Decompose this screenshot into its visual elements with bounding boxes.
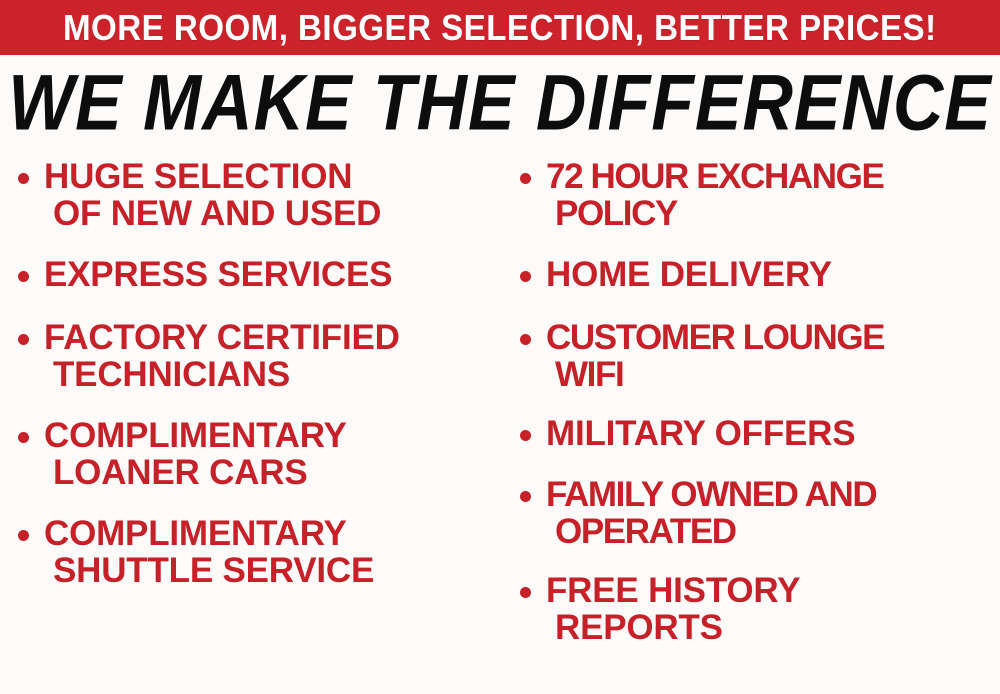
bullet-dot-icon <box>520 430 531 441</box>
list-item: EXPRESS SERVICES <box>18 256 494 293</box>
list-item-line-1: FACTORY CERTIFIED <box>44 318 400 357</box>
list-item-line-1: COMPLIMENTARY <box>44 416 347 455</box>
list-item: COMPLIMENTARY LOANER CARS <box>18 417 494 491</box>
bullet-dot-icon <box>18 271 29 282</box>
list-item-line-2: OF NEW AND USED <box>44 195 494 232</box>
bullet-dot-icon <box>520 271 531 282</box>
bullet-dot-icon <box>18 334 29 345</box>
top-promo-banner: MORE ROOM, BIGGER SELECTION, BETTER PRIC… <box>0 0 1000 55</box>
list-item-line-2: WIFI <box>546 356 994 393</box>
list-item-label: FAMILY OWNED AND OPERATED <box>546 476 994 550</box>
list-item-line-1: CUSTOMER LOUNGE <box>546 318 884 357</box>
list-item-label: CUSTOMER LOUNGE WIFI <box>546 319 994 393</box>
list-item-label: FACTORY CERTIFIED TECHNICIANS <box>44 319 494 393</box>
list-item: COMPLIMENTARY SHUTTLE SERVICE <box>18 515 494 589</box>
list-item: HUGE SELECTION OF NEW AND USED <box>18 158 494 232</box>
list-item-line-1: COMPLIMENTARY <box>44 514 347 553</box>
page-title: WE MAKE THE DIFFERENCE <box>8 63 992 142</box>
list-item-line-2: REPORTS <box>546 609 994 646</box>
list-item-line-2: SHUTTLE SERVICE <box>44 552 494 589</box>
list-item-line-2: POLICY <box>546 195 994 232</box>
list-item-label: COMPLIMENTARY SHUTTLE SERVICE <box>44 515 494 589</box>
list-item: 72 HOUR EXCHANGE POLICY <box>520 158 994 232</box>
list-item-label: HOME DELIVERY <box>546 256 994 293</box>
list-item-line-1: MILITARY OFFERS <box>546 414 855 453</box>
list-item-line-1: FREE HISTORY <box>546 571 800 610</box>
bullet-dot-icon <box>520 587 531 598</box>
list-item-label: FREE HISTORY REPORTS <box>546 572 994 646</box>
list-item: CUSTOMER LOUNGE WIFI <box>520 319 994 393</box>
list-item-line-2: TECHNICIANS <box>44 356 494 393</box>
bullet-dot-icon <box>520 334 531 345</box>
benefits-columns: HUGE SELECTION OF NEW AND USED EXPRESS S… <box>0 158 1000 694</box>
list-item-line-1: HOME DELIVERY <box>546 255 832 294</box>
list-item: MILITARY OFFERS <box>520 415 994 452</box>
top-promo-banner-text: MORE ROOM, BIGGER SELECTION, BETTER PRIC… <box>63 10 937 46</box>
list-item-line-2: LOANER CARS <box>44 454 494 491</box>
list-item-label: HUGE SELECTION OF NEW AND USED <box>44 158 494 232</box>
list-item-label: COMPLIMENTARY LOANER CARS <box>44 417 494 491</box>
list-item-line-1: 72 HOUR EXCHANGE <box>546 157 883 196</box>
list-item-line-1: EXPRESS SERVICES <box>44 255 392 294</box>
list-item: FAMILY OWNED AND OPERATED <box>520 476 994 550</box>
list-item-line-1: FAMILY OWNED AND <box>546 475 876 514</box>
benefits-column-right: 72 HOUR EXCHANGE POLICY HOME DELIVERY CU… <box>500 158 1000 679</box>
bullet-dot-icon <box>18 173 29 184</box>
bullet-dot-icon <box>18 530 29 541</box>
list-item: FACTORY CERTIFIED TECHNICIANS <box>18 319 494 393</box>
benefits-column-left: HUGE SELECTION OF NEW AND USED EXPRESS S… <box>0 158 500 622</box>
list-item-label: 72 HOUR EXCHANGE POLICY <box>546 158 994 232</box>
list-item-label: EXPRESS SERVICES <box>44 256 494 293</box>
bullet-dot-icon <box>520 173 531 184</box>
bullet-dot-icon <box>18 432 29 443</box>
list-item-line-2: OPERATED <box>546 513 994 550</box>
list-item-label: MILITARY OFFERS <box>546 415 994 452</box>
list-item: FREE HISTORY REPORTS <box>520 572 994 646</box>
headline-container: WE MAKE THE DIFFERENCE <box>0 60 1000 145</box>
bullet-dot-icon <box>520 491 531 502</box>
list-item: HOME DELIVERY <box>520 256 994 293</box>
list-item-line-1: HUGE SELECTION <box>44 157 352 196</box>
